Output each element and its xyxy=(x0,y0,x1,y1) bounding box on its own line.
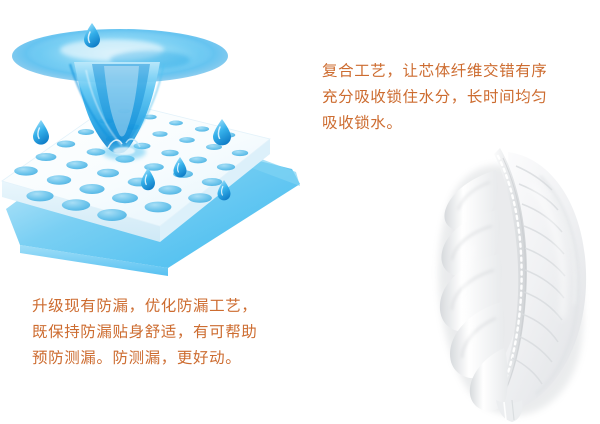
product-feature-page: 复合工艺，让芯体纤维交错有序 充分吸收锁住水分，长时间均匀 吸收锁水。 升级现有… xyxy=(0,0,600,424)
water-droplet-falling xyxy=(84,23,100,48)
perforated-absorbing-layer-illustration xyxy=(0,4,300,279)
leakguard-feature-text: 升级现有防漏，优化防漏工艺， 既保持防漏贴身舒适，有可帮助 预防测漏。防测漏，更… xyxy=(32,293,300,371)
leak-guard-cuff-illustration xyxy=(412,136,600,424)
cuff-bottom-tail xyxy=(496,400,523,422)
absorb-feature-text: 复合工艺，让芯体纤维交错有序 充分吸收锁住水分，长时间均匀 吸收锁水。 xyxy=(322,58,590,136)
